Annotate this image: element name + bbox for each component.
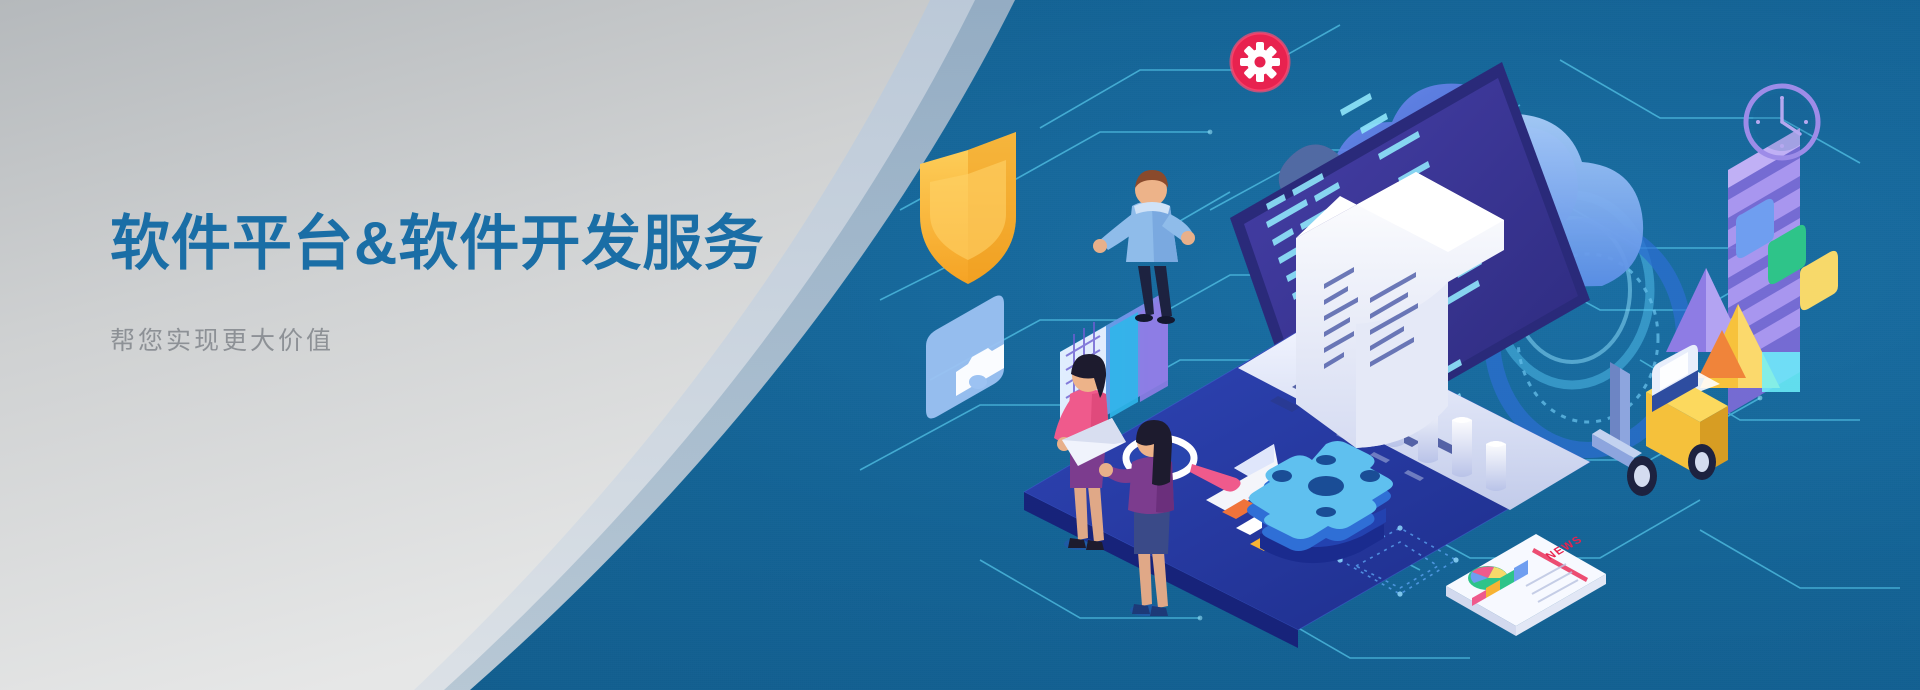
news-document: NEWS bbox=[1446, 534, 1606, 636]
banner-text-block: 软件平台&软件开发服务 帮您实现更大价值 bbox=[110, 212, 870, 357]
page-title: 软件平台&软件开发服务 bbox=[110, 212, 870, 277]
hero-banner: NEWS bbox=[0, 0, 1920, 690]
shield-icon bbox=[920, 132, 1016, 284]
camera-tile-icon bbox=[926, 296, 1004, 419]
gear-badge-icon bbox=[1231, 33, 1289, 91]
illustration-isometric-scene: NEWS bbox=[900, 0, 1920, 690]
clock-icon bbox=[1746, 86, 1818, 158]
page-subtitle: 帮您实现更大价值 bbox=[110, 321, 870, 357]
